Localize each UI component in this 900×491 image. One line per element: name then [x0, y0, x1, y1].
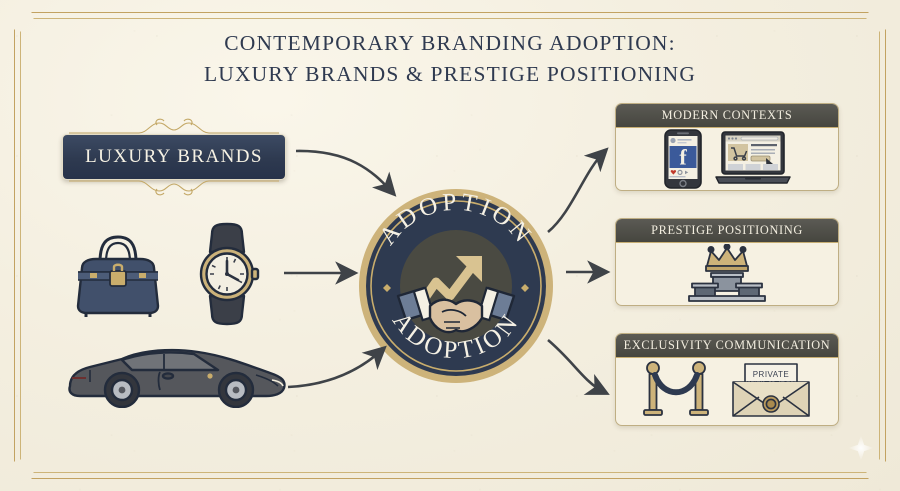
luxury-brands-plaque[interactable]: LUXURY BRANDS	[62, 134, 286, 180]
luxury-sports-car-icon	[60, 340, 292, 413]
panel-header: PRESTIGE POSITIONING	[616, 219, 838, 243]
panel-title: PRESTIGE POSITIONING	[651, 223, 803, 238]
panel-title: MODERN CONTEXTS	[662, 108, 793, 123]
flourish-ornament-bottom-icon	[69, 178, 279, 200]
panel-header: EXCLUSIVITY COMMUNICATION	[616, 334, 838, 358]
crown-podium-icon	[675, 244, 779, 304]
arrow-emblem-to-exclusivity	[548, 340, 604, 392]
plaque-box: LUXURY BRANDS	[62, 134, 286, 180]
luxury-handbag-icon	[70, 228, 166, 325]
title-line-2: LUXURY BRANDS & PRESTIGE POSITIONING	[0, 59, 900, 90]
panel-body: PRIVATE INVITATION	[616, 358, 838, 424]
panel-modern-contexts[interactable]: MODERN CONTEXTS f	[615, 103, 839, 191]
panel-body: f	[616, 128, 838, 189]
corner-sparkle-icon	[848, 435, 874, 461]
smartphone-social-icon: f	[662, 129, 704, 189]
page-title: CONTEMPORARY BRANDING ADOPTION: LUXURY B…	[0, 28, 900, 89]
panel-title: EXCLUSIVITY COMMUNICATION	[624, 338, 831, 353]
arrow-emblem-to-modern	[548, 152, 604, 232]
velvet-rope-icon	[637, 360, 715, 422]
invitation-envelope-icon: PRIVATE INVITATION	[725, 360, 817, 422]
luxury-watch-icon	[186, 222, 268, 331]
panel-body	[616, 243, 838, 304]
panel-header: MODERN CONTEXTS	[616, 104, 838, 128]
svg-text:PRIVATE: PRIVATE	[753, 370, 790, 379]
plaque-label: LUXURY BRANDS	[85, 146, 263, 168]
laptop-ecommerce-icon	[714, 130, 792, 188]
flourish-ornament-top-icon	[69, 114, 279, 136]
social-glyph: f	[679, 144, 687, 169]
infographic-poster: CONTEMPORARY BRANDING ADOPTION: LUXURY B…	[0, 0, 900, 491]
panel-exclusivity-communication[interactable]: EXCLUSIVITY COMMUNICATION PRIVATE	[615, 333, 839, 426]
panel-prestige-positioning[interactable]: PRESTIGE POSITIONING	[615, 218, 839, 306]
adoption-emblem: ADOPTION ADOPTION ADOPTION ADOPTION	[356, 186, 556, 386]
title-line-1: CONTEMPORARY BRANDING ADOPTION:	[224, 31, 676, 55]
